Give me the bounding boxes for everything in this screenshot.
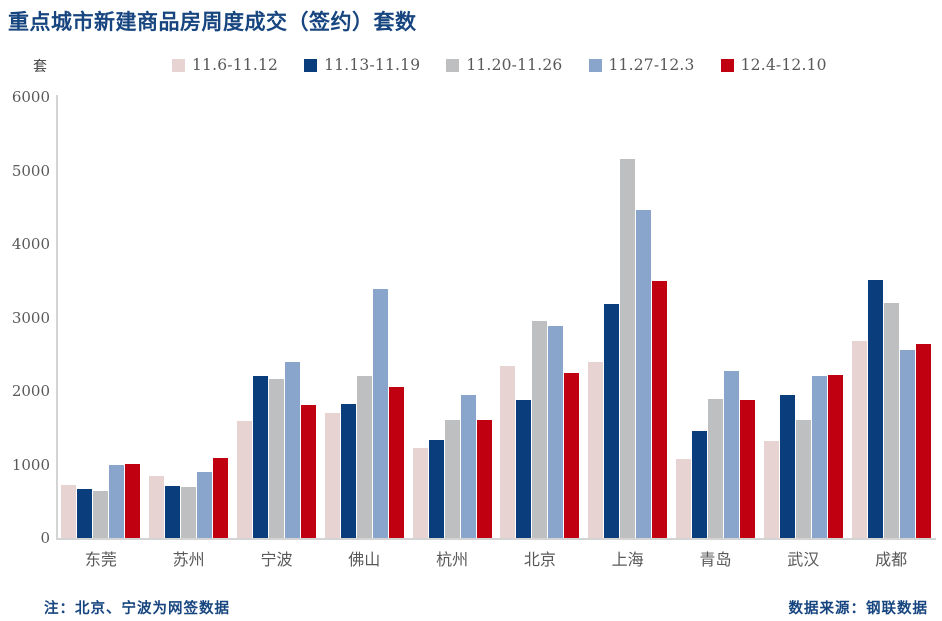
legend-swatch-icon [172,59,185,72]
legend-swatch-icon [589,59,602,72]
x-axis-label: 青岛 [699,546,731,570]
bar[interactable] [165,486,180,538]
bar[interactable] [213,458,228,538]
bar[interactable] [796,420,811,538]
bar[interactable] [740,400,755,538]
legend-swatch-icon [446,59,459,72]
bar[interactable] [357,376,372,538]
bar-group [852,97,931,538]
bar[interactable] [620,159,635,538]
bar-group [149,97,228,538]
bar[interactable] [285,362,300,538]
bar[interactable] [429,440,444,538]
bar[interactable] [636,210,651,538]
legend-item-3[interactable]: 11.20-11.26 [446,56,562,74]
bar[interactable] [109,465,124,538]
bar[interactable] [764,441,779,538]
plot-area [57,97,935,538]
legend-item-2[interactable]: 11.13-11.19 [304,56,420,74]
x-axis-label: 宁波 [260,546,292,570]
bar[interactable] [516,400,531,538]
y-axis: 0100020003000400050006000 [0,88,50,548]
bar[interactable] [197,472,212,538]
bar[interactable] [564,373,579,538]
y-axis-tick: 5000 [12,162,50,180]
x-axis-label: 苏州 [173,546,205,570]
legend-swatch-icon [721,59,734,72]
bar[interactable] [852,341,867,538]
bar-group [676,97,755,538]
legend-item-4[interactable]: 11.27-12.3 [589,56,695,74]
bar[interactable] [588,362,603,538]
legend-item-5[interactable]: 12.4-12.10 [721,56,827,74]
x-axis-labels: 东莞苏州宁波佛山杭州北京上海青岛武汉成都 [57,546,935,576]
chart-source: 数据来源：钢联数据 [789,597,929,618]
x-axis-label: 武汉 [787,546,819,570]
bar-group [588,97,667,538]
bar-group [61,97,140,538]
y-axis-tick: 6000 [12,88,50,106]
legend-label: 12.4-12.10 [741,56,827,74]
x-axis-label: 东莞 [85,546,117,570]
bar-group [764,97,843,538]
legend-label: 11.20-11.26 [466,56,562,74]
bar[interactable] [125,464,140,538]
bar-group [413,97,492,538]
bar[interactable] [237,421,252,538]
bar[interactable] [181,487,196,538]
bar[interactable] [461,395,476,538]
x-axis-line [56,538,936,540]
x-axis-label: 杭州 [436,546,468,570]
bar[interactable] [532,321,547,538]
bar[interactable] [916,344,931,538]
y-axis-tick: 0 [40,529,50,547]
bar[interactable] [780,395,795,538]
bar[interactable] [149,476,164,538]
y-axis-unit-label: 套 [33,56,47,76]
bar[interactable] [477,420,492,538]
bar[interactable] [548,326,563,538]
legend-label: 11.6-11.12 [192,56,278,74]
bar-group [500,97,579,538]
legend-label: 11.27-12.3 [609,56,695,74]
bar[interactable] [61,485,76,538]
bar[interactable] [373,289,388,538]
y-axis-tick: 4000 [12,235,50,253]
bar[interactable] [692,431,707,538]
bar[interactable] [884,303,899,538]
bar[interactable] [301,405,316,538]
bar[interactable] [604,304,619,538]
bar[interactable] [652,281,667,538]
bar[interactable] [828,375,843,538]
bar[interactable] [708,399,723,538]
x-axis-label: 北京 [524,546,556,570]
bar[interactable] [77,489,92,538]
bar[interactable] [500,366,515,538]
bar[interactable] [445,420,460,538]
x-axis-label: 成都 [875,546,907,570]
chart-note: 注：北京、宁波为网签数据 [44,597,230,618]
bar-group [237,97,316,538]
bar[interactable] [900,350,915,538]
bar[interactable] [413,448,428,538]
legend-swatch-icon [304,59,317,72]
y-axis-tick: 1000 [12,456,50,474]
y-axis-tick: 2000 [12,382,50,400]
bar[interactable] [269,379,284,538]
chart-legend: 11.6-11.1211.13-11.1911.20-11.2611.27-12… [172,56,827,74]
bar[interactable] [341,404,356,538]
bar[interactable] [253,376,268,538]
bar[interactable] [676,459,691,538]
x-axis-label: 上海 [612,546,644,570]
bar[interactable] [868,280,883,538]
y-axis-tick: 3000 [12,309,50,327]
legend-label: 11.13-11.19 [324,56,420,74]
bar[interactable] [724,371,739,538]
x-axis-label: 佛山 [348,546,380,570]
bar[interactable] [93,491,108,538]
chart-title: 重点城市新建商品房周度成交（签约）套数 [8,6,417,36]
bar[interactable] [389,387,404,538]
bar-group [325,97,404,538]
bar[interactable] [812,376,827,538]
bar[interactable] [325,413,340,538]
legend-item-1[interactable]: 11.6-11.12 [172,56,278,74]
